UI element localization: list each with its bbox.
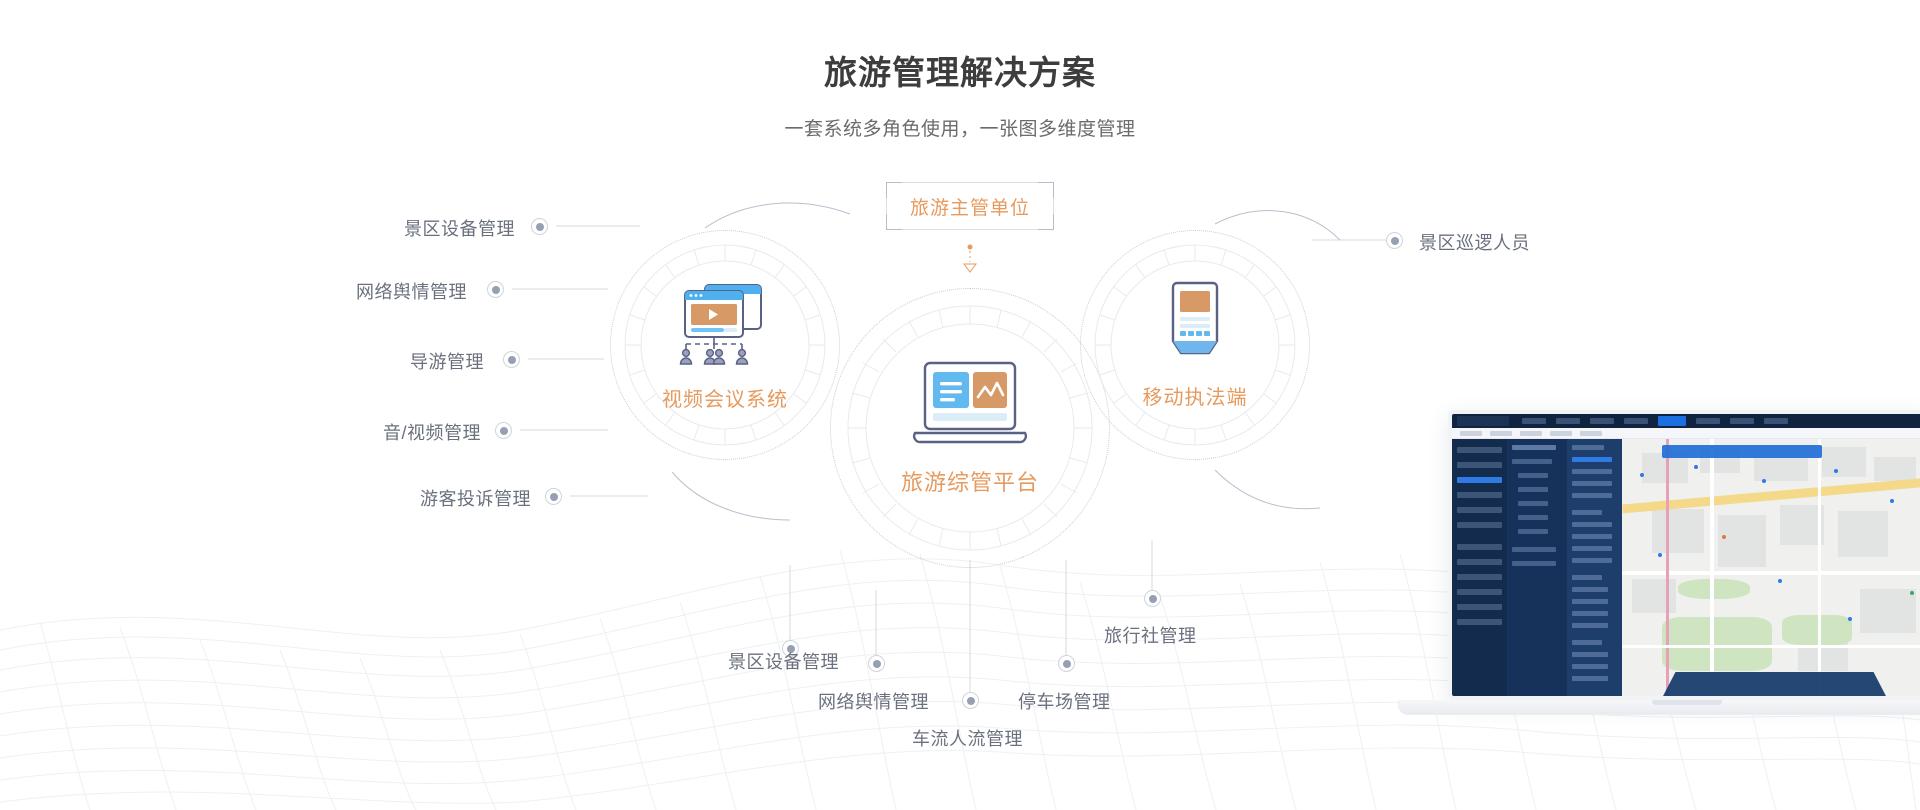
bottom-label-0[interactable]: 景区设备管理 bbox=[728, 648, 839, 674]
sidebar-item[interactable] bbox=[1457, 507, 1502, 513]
corner-top-right bbox=[1038, 182, 1054, 198]
node-tourism-platform-label: 旅游综管平台 bbox=[901, 465, 1039, 497]
node-mobile-enforcement[interactable]: 移动执法端 bbox=[1080, 230, 1310, 460]
layer-row[interactable] bbox=[1572, 664, 1608, 669]
panel-row[interactable] bbox=[1518, 501, 1548, 506]
layer-row[interactable] bbox=[1572, 493, 1612, 498]
laptop-dashboard-icon bbox=[907, 359, 1033, 451]
topbar-menu-item[interactable] bbox=[1764, 418, 1788, 424]
layer-row[interactable] bbox=[1572, 676, 1608, 681]
dept-arrow-connector bbox=[964, 245, 976, 273]
page-subtitle: 一套系统多角色使用，一张图多维度管理 bbox=[0, 114, 1920, 141]
left-label-0[interactable]: 景区设备管理 bbox=[404, 215, 515, 241]
tab-chip[interactable] bbox=[1460, 431, 1482, 436]
layer-row[interactable] bbox=[1572, 575, 1602, 580]
sidebar-item[interactable] bbox=[1457, 574, 1502, 580]
layer-row[interactable] bbox=[1572, 546, 1612, 551]
panel-row[interactable] bbox=[1518, 529, 1548, 534]
edge-top bbox=[902, 182, 1038, 183]
sidebar-item[interactable] bbox=[1457, 447, 1502, 453]
bottom-dot-1[interactable] bbox=[868, 655, 885, 672]
panel-row[interactable] bbox=[1512, 445, 1556, 450]
topbar-menu-item[interactable] bbox=[1522, 418, 1546, 424]
edge-left bbox=[886, 198, 887, 214]
left-dot-0[interactable] bbox=[531, 218, 548, 235]
tab-chip[interactable] bbox=[1520, 431, 1542, 436]
layer-row[interactable] bbox=[1572, 522, 1612, 527]
bottom-label-3[interactable]: 停车场管理 bbox=[1018, 688, 1111, 714]
layer-row[interactable] bbox=[1572, 445, 1604, 450]
sidebar-item[interactable] bbox=[1457, 492, 1502, 498]
left-label-1[interactable]: 网络舆情管理 bbox=[356, 278, 467, 304]
edge-bottom bbox=[902, 229, 1038, 230]
bottom-dot-3[interactable] bbox=[1058, 655, 1075, 672]
panel-row[interactable] bbox=[1512, 547, 1556, 552]
bottom-dot-4[interactable] bbox=[1144, 590, 1161, 607]
layer-row[interactable] bbox=[1572, 558, 1612, 563]
panel-row[interactable] bbox=[1518, 487, 1548, 492]
panel-row[interactable] bbox=[1518, 473, 1548, 478]
layer-row[interactable] bbox=[1572, 652, 1608, 657]
video-window-icon bbox=[671, 279, 779, 369]
corner-top-left bbox=[886, 182, 902, 198]
layer-row[interactable] bbox=[1572, 640, 1602, 645]
sidebar-item[interactable] bbox=[1457, 522, 1502, 528]
left-dot-4[interactable] bbox=[545, 488, 562, 505]
layer-row[interactable] bbox=[1572, 587, 1608, 592]
dashboard-layer-panel bbox=[1567, 439, 1622, 697]
tab-chip[interactable] bbox=[1490, 431, 1512, 436]
left-dot-2[interactable] bbox=[503, 351, 520, 368]
left-label-4[interactable]: 游客投诉管理 bbox=[420, 485, 531, 511]
dept-box[interactable]: 旅游主管单位 bbox=[886, 182, 1054, 230]
laptop-screen[interactable] bbox=[1448, 410, 1920, 700]
bottom-dot-2[interactable] bbox=[962, 692, 979, 709]
handheld-device-icon bbox=[1163, 281, 1227, 367]
edge-right bbox=[1053, 198, 1054, 214]
dashboard-map[interactable] bbox=[1622, 439, 1920, 700]
node-mobile-enforcement-label: 移动执法端 bbox=[1143, 381, 1248, 410]
panel-row[interactable] bbox=[1512, 459, 1552, 464]
topbar-menu-item[interactable] bbox=[1730, 418, 1754, 424]
left-label-2[interactable]: 导游管理 bbox=[410, 348, 484, 374]
corner-bottom-right bbox=[1038, 214, 1054, 230]
topbar-menu-item[interactable] bbox=[1696, 418, 1720, 424]
topbar-menu-item-active[interactable] bbox=[1658, 416, 1686, 426]
node-tourism-platform[interactable]: 旅游综管平台 bbox=[830, 288, 1110, 568]
sidebar-item[interactable] bbox=[1457, 462, 1502, 468]
sidebar-item[interactable] bbox=[1457, 589, 1502, 595]
node-video-conference-label: 视频会议系统 bbox=[662, 383, 788, 412]
layer-row[interactable] bbox=[1572, 599, 1608, 604]
layer-row[interactable] bbox=[1572, 469, 1612, 474]
right-dot-0[interactable] bbox=[1386, 232, 1403, 249]
node-tourism-platform-content: 旅游综管平台 bbox=[830, 288, 1110, 568]
dashboard-logo bbox=[1457, 416, 1509, 426]
dept-box-label: 旅游主管单位 bbox=[910, 193, 1030, 220]
layer-row[interactable] bbox=[1572, 534, 1612, 539]
sidebar-item[interactable] bbox=[1457, 544, 1502, 550]
laptop-base bbox=[1398, 700, 1920, 715]
layer-row-selected[interactable] bbox=[1572, 457, 1612, 462]
sidebar-item[interactable] bbox=[1457, 604, 1502, 610]
sidebar-item[interactable] bbox=[1457, 619, 1502, 625]
page-title: 旅游管理解决方案 bbox=[0, 46, 1920, 94]
bottom-label-2[interactable]: 车流人流管理 bbox=[912, 725, 1023, 751]
sidebar-item-selected[interactable] bbox=[1457, 477, 1502, 483]
layer-row[interactable] bbox=[1572, 623, 1608, 628]
tab-chip[interactable] bbox=[1580, 431, 1602, 436]
node-video-conference[interactable]: 视频会议系统 bbox=[610, 230, 840, 460]
panel-row[interactable] bbox=[1512, 561, 1556, 566]
tab-chip[interactable] bbox=[1550, 431, 1572, 436]
right-label-0[interactable]: 景区巡逻人员 bbox=[1419, 229, 1530, 255]
bottom-label-4[interactable]: 旅行社管理 bbox=[1104, 622, 1197, 648]
corner-bottom-left bbox=[886, 214, 902, 230]
left-label-3[interactable]: 音/视频管理 bbox=[383, 419, 481, 445]
layer-row[interactable] bbox=[1572, 510, 1602, 515]
left-dot-1[interactable] bbox=[487, 281, 504, 298]
solution-diagram-page: 旅游管理解决方案 一套系统多角色使用，一张图多维度管理 旅游主管单位 bbox=[0, 0, 1920, 810]
topbar-menu-item[interactable] bbox=[1590, 418, 1614, 424]
topbar-menu-item[interactable] bbox=[1556, 418, 1580, 424]
layer-row[interactable] bbox=[1572, 611, 1608, 616]
page-header: 旅游管理解决方案 一套系统多角色使用，一张图多维度管理 bbox=[0, 0, 1920, 141]
map-footer-toolbar[interactable] bbox=[1662, 672, 1887, 698]
topbar-menu-item[interactable] bbox=[1624, 418, 1648, 424]
node-video-conference-content: 视频会议系统 bbox=[610, 230, 840, 460]
node-mobile-enforcement-content: 移动执法端 bbox=[1080, 230, 1310, 460]
layer-row[interactable] bbox=[1572, 481, 1612, 486]
map-toolbar[interactable] bbox=[1662, 445, 1822, 458]
bottom-label-1[interactable]: 网络舆情管理 bbox=[818, 688, 929, 714]
panel-row[interactable] bbox=[1518, 515, 1548, 520]
left-dot-3[interactable] bbox=[495, 422, 512, 439]
sidebar-item[interactable] bbox=[1457, 559, 1502, 565]
